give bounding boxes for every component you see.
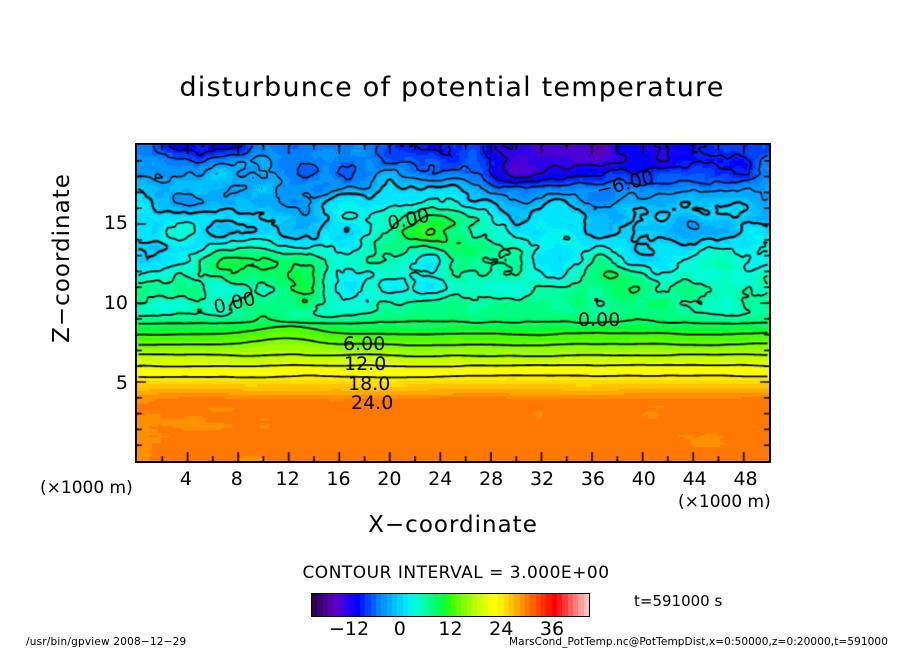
x-axis-label: X−coordinate	[135, 512, 771, 538]
x-tick-label: 4	[166, 468, 206, 490]
y-tick-label: 5	[88, 372, 128, 394]
footer-dataset: MarsCond_PotTemp.nc@PotTempDist,x=0:5000…	[509, 636, 888, 648]
x-tick-label: 36	[573, 468, 613, 490]
colorbar[interactable]	[311, 593, 590, 617]
y-axis-label: Z−coordinate	[49, 158, 75, 358]
x-tick-label: 44	[675, 468, 715, 490]
colorbar-swatch	[584, 594, 589, 616]
x-axis-unit: (×1000 m)	[678, 492, 771, 512]
contour-plot-canvas	[137, 145, 769, 461]
contour-interval-label: CONTOUR INTERVAL = 3.000E+00	[0, 563, 904, 583]
x-tick-label: 40	[624, 468, 664, 490]
x-tick-label: 8	[217, 468, 257, 490]
contour-plot-area[interactable]	[135, 143, 771, 463]
y-tick-label: 10	[88, 292, 128, 314]
x-tick-label: 16	[319, 468, 359, 490]
page-title: disturbunce of potential temperature	[0, 72, 904, 103]
x-tick-label: 20	[369, 468, 409, 490]
x-tick-label: 24	[420, 468, 460, 490]
x-axis-ticks: 4812162024283236404448	[135, 468, 771, 496]
y-axis-ticks: 51015	[78, 143, 128, 463]
x-tick-label: 32	[522, 468, 562, 490]
y-axis-unit: (×1000 m)	[40, 478, 133, 498]
x-tick-label: 48	[726, 468, 766, 490]
footer-command: /usr/bin/gpview 2008−12−29	[26, 636, 186, 648]
x-tick-label: 12	[268, 468, 308, 490]
x-tick-label: 28	[471, 468, 511, 490]
y-tick-label: 15	[88, 212, 128, 234]
time-annotation: t=591000 s	[634, 592, 722, 610]
